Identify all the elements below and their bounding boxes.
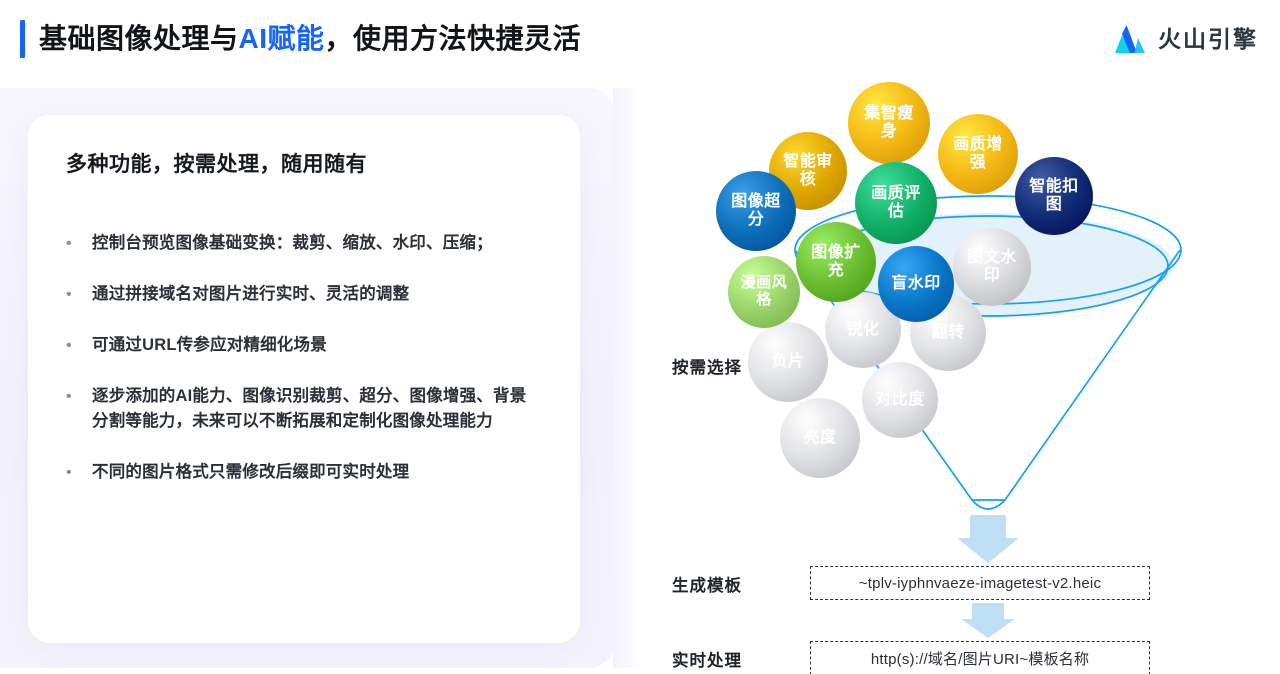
row-label-select: 按需选择 — [672, 354, 742, 378]
feature-bullet-list: • 控制台预览图像基础变换：裁剪、缩放、水印、压缩； • 通过拼接域名对图片进行… — [66, 231, 536, 511]
capability-bubble-label: 智能扣图 — [1026, 178, 1082, 214]
volcano-mountain-logo-icon — [1114, 24, 1148, 54]
capability-bubble-label: 图像扩充 — [807, 244, 865, 280]
template-value-box: ~tplv-iyphnvaeze-imagetest-v2.heic — [810, 566, 1150, 600]
list-item: • 不同的图片格式只需修改后缀即可实时处理 — [66, 460, 536, 485]
list-item: • 控制台预览图像基础变换：裁剪、缩放、水印、压缩； — [66, 231, 536, 256]
list-item: • 逐步添加的AI能力、图像识别裁剪、超分、图像增强、背景分割等能力，未来可以不… — [66, 384, 536, 434]
capability-bubble[interactable]: 图文水印 — [953, 228, 1031, 306]
capability-bubble[interactable]: 智能扣图 — [1015, 157, 1093, 235]
funnel-bottom-curve — [972, 500, 1005, 509]
bullet-dot-icon: • — [66, 231, 76, 256]
title-part-plain-1: 基础图像处理与 — [39, 23, 239, 54]
capability-bubble-label: 亮度 — [791, 429, 849, 447]
arrow-down-to-template-icon — [957, 515, 1019, 563]
bullet-dot-icon: • — [66, 282, 76, 307]
page-title: 基础图像处理与AI赋能，使用方法快捷灵活 — [20, 20, 581, 58]
capability-bubble-label: 画质增强 — [949, 136, 1007, 172]
title-accent-bar — [20, 20, 25, 58]
capability-bubble[interactable]: 画质增强 — [938, 114, 1018, 194]
list-item-label: 可通过URL传参应对精细化场景 — [92, 333, 327, 358]
capability-bubble-label: 漫画风格 — [739, 275, 789, 309]
capability-bubble-label: 锐化 — [836, 321, 890, 339]
title-part-plain-2: ，使用方法快捷灵活 — [325, 23, 582, 54]
capability-bubble[interactable]: 画质评估 — [855, 162, 937, 244]
capability-bubble-label: 图文水印 — [964, 249, 1020, 285]
capability-bubble[interactable]: 图像超分 — [716, 171, 796, 251]
list-item: • 通过拼接域名对图片进行实时、灵活的调整 — [66, 282, 536, 307]
realtime-value-box: http(s)://域名/图片URI~模板名称 — [810, 641, 1150, 674]
list-item: • 可通过URL传参应对精细化场景 — [66, 333, 536, 358]
brand-lockup: 火山引擎 — [1114, 24, 1258, 54]
capability-bubble[interactable]: 对比度 — [862, 362, 938, 438]
slide-page: 基础图像处理与AI赋能，使用方法快捷灵活 火山引擎 多种功能，按需处理，随用随有… — [0, 0, 1280, 674]
capability-bubble[interactable]: 亮度 — [780, 398, 860, 478]
capability-bubble-label: 翻转 — [921, 324, 975, 342]
arrow-down-to-realtime-icon — [961, 603, 1015, 638]
capability-bubble-label: 智能审核 — [780, 153, 836, 189]
page-title-text: 基础图像处理与AI赋能，使用方法快捷灵活 — [39, 24, 581, 55]
bullet-dot-icon: • — [66, 384, 76, 434]
funnel-diagram: 集智瘦身智能审核画质增强图像超分画质评估智能扣图图像扩充盲水印漫画风格图文水印锐… — [620, 60, 1280, 674]
brand-name: 火山引擎 — [1158, 28, 1258, 51]
title-part-accent: AI赋能 — [239, 23, 325, 54]
capability-bubble-label: 对比度 — [873, 391, 927, 409]
bullet-dot-icon: • — [66, 333, 76, 358]
list-item-label: 通过拼接域名对图片进行实时、灵活的调整 — [92, 282, 409, 307]
row-label-realtime: 实时处理 — [672, 647, 742, 671]
capability-bubble[interactable]: 集智瘦身 — [848, 82, 930, 164]
capability-bubble-label: 画质评估 — [866, 185, 926, 221]
capability-bubble[interactable]: 图像扩充 — [796, 222, 876, 302]
capability-bubble-label: 盲水印 — [889, 275, 943, 293]
list-item-label: 不同的图片格式只需修改后缀即可实时处理 — [92, 460, 409, 485]
capability-bubble[interactable]: 盲水印 — [878, 246, 954, 322]
features-card: 多种功能，按需处理，随用随有 • 控制台预览图像基础变换：裁剪、缩放、水印、压缩… — [28, 115, 580, 643]
capability-bubble-label: 集智瘦身 — [859, 105, 919, 141]
list-item-label: 控制台预览图像基础变换：裁剪、缩放、水印、压缩； — [92, 231, 493, 256]
list-item-label: 逐步添加的AI能力、图像识别裁剪、超分、图像增强、背景分割等能力，未来可以不断拓… — [92, 384, 536, 434]
bullet-dot-icon: • — [66, 460, 76, 485]
capability-bubble-label: 负片 — [759, 353, 817, 371]
capability-bubble-label: 图像超分 — [727, 193, 785, 229]
card-title: 多种功能，按需处理，随用随有 — [66, 148, 367, 178]
capability-bubble[interactable]: 负片 — [748, 322, 828, 402]
capability-bubble[interactable]: 漫画风格 — [728, 256, 800, 328]
row-label-template: 生成模板 — [672, 572, 742, 596]
